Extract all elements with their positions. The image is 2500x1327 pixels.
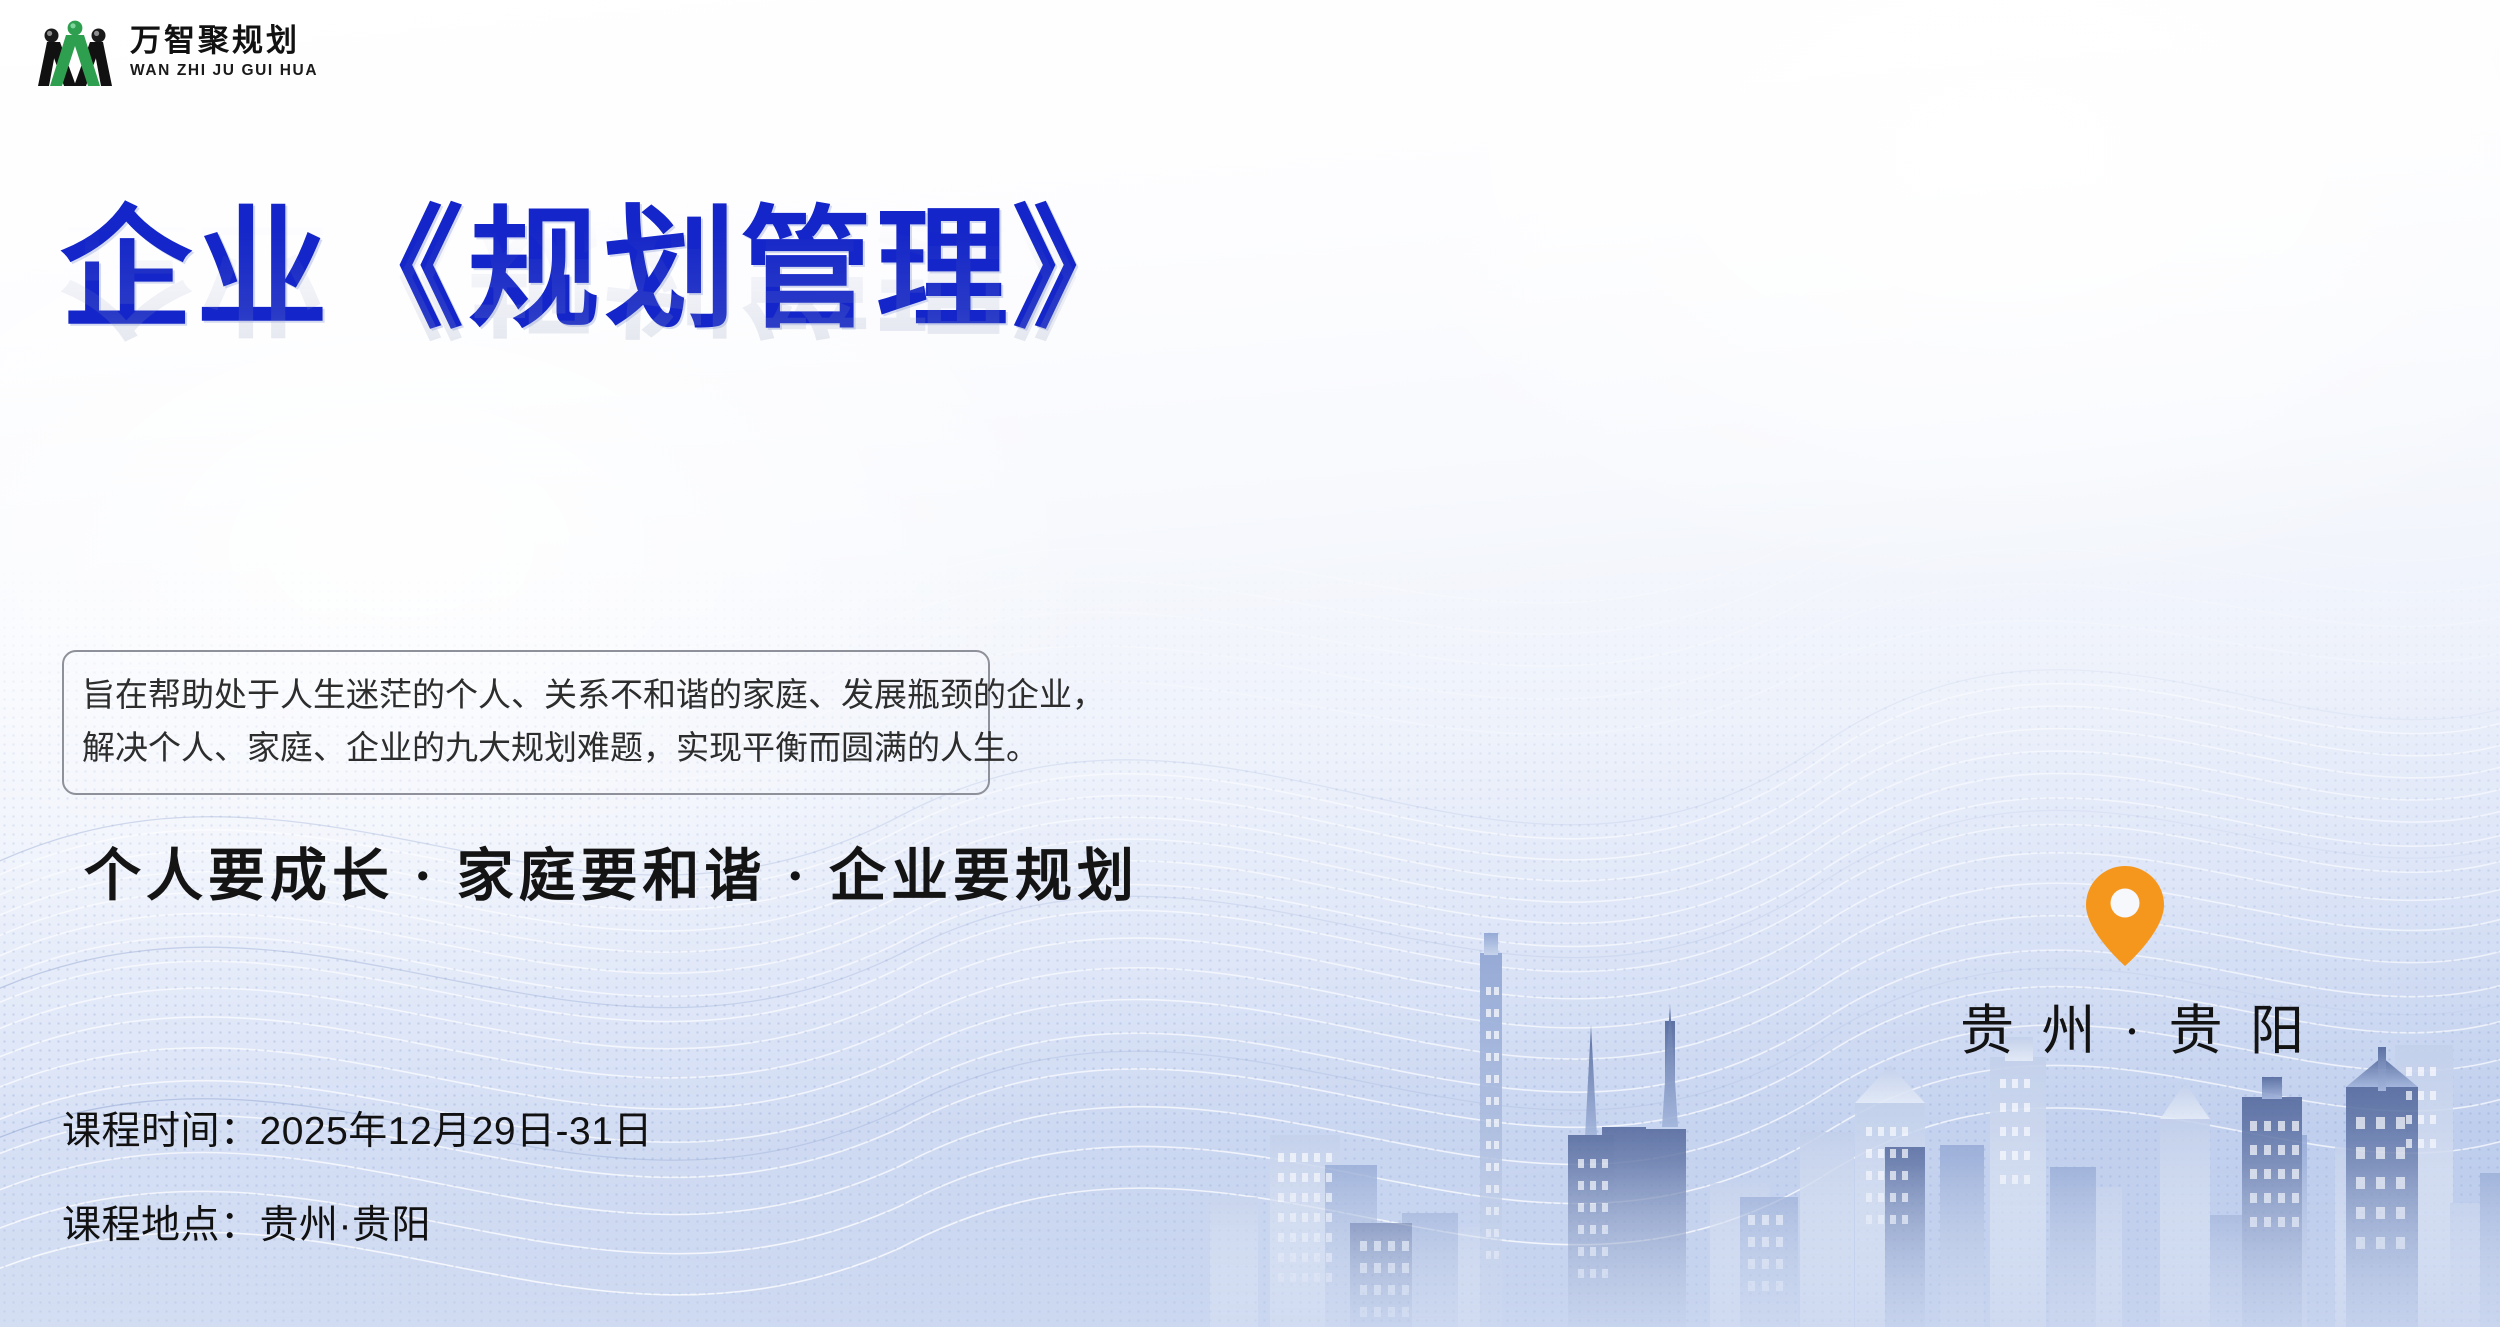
page-title: 企业《规划管理》 bbox=[60, 196, 1148, 344]
brand-logo: 万智聚规划 WAN ZHI JU GUI HUA bbox=[36, 18, 318, 86]
course-location: 课程地点：贵州·贵阳 bbox=[62, 1194, 653, 1250]
description-line-2: 解决个人、家庭、企业的九大规划难题，实现平衡而圆满的人生。 bbox=[82, 721, 970, 774]
map-pin-icon bbox=[2079, 862, 2171, 970]
course-date: 课程时间：2025年12月29日-31日 bbox=[62, 1100, 653, 1156]
hero-slogan: 个人要成长 · 家庭要和谐 · 企业要规划 bbox=[84, 830, 1139, 912]
brand-wordmark: 万智聚规划 WAN ZHI JU GUI HUA bbox=[130, 25, 318, 79]
course-meta: 课程时间：2025年12月29日-31日 课程地点：贵州·贵阳 bbox=[62, 1100, 653, 1250]
poster-canvas: 万智聚规划 WAN ZHI JU GUI HUA 企业《规划管理》 企业《规划管… bbox=[0, 0, 2500, 1327]
location-badge: 贵 州 · 贵 阳 bbox=[1960, 862, 2290, 1065]
brand-name-en: WAN ZHI JU GUI HUA bbox=[130, 63, 318, 79]
description-line-1: 旨在帮助处于人生迷茫的个人、关系不和谐的家庭、发展瓶颈的企业， bbox=[82, 668, 970, 721]
location-label: 贵 州 · 贵 阳 bbox=[1960, 986, 2290, 1065]
description-box: 旨在帮助处于人生迷茫的个人、关系不和谐的家庭、发展瓶颈的企业， 解决个人、家庭、… bbox=[62, 650, 990, 795]
brand-name-cn: 万智聚规划 bbox=[130, 25, 318, 56]
three-people-logo-icon bbox=[36, 18, 114, 86]
hero-title-block: 企业《规划管理》 企业《规划管理》 bbox=[60, 196, 1148, 494]
